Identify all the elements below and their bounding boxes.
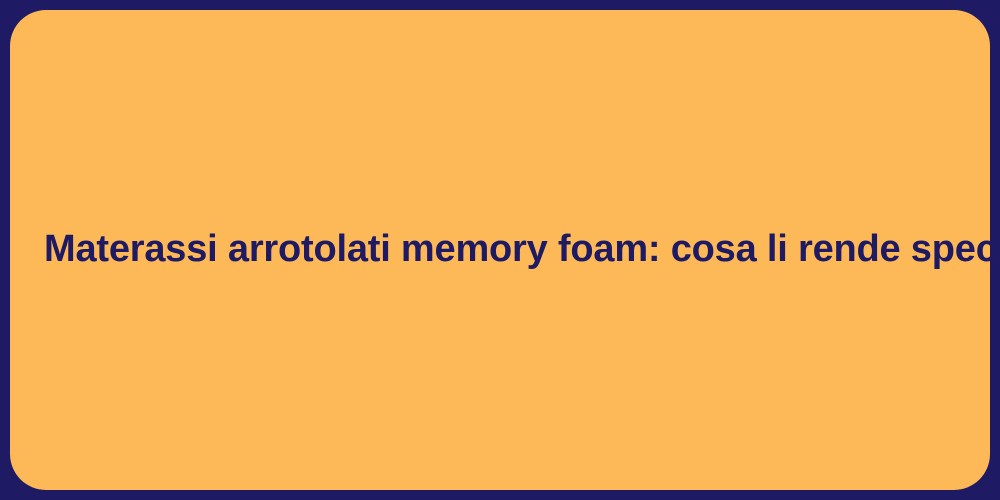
page-background: Materassi arrotolati memory foam: cosa l… (0, 0, 1000, 500)
page-title: Materassi arrotolati memory foam: cosa l… (44, 226, 956, 274)
headline-card: Materassi arrotolati memory foam: cosa l… (10, 10, 990, 490)
